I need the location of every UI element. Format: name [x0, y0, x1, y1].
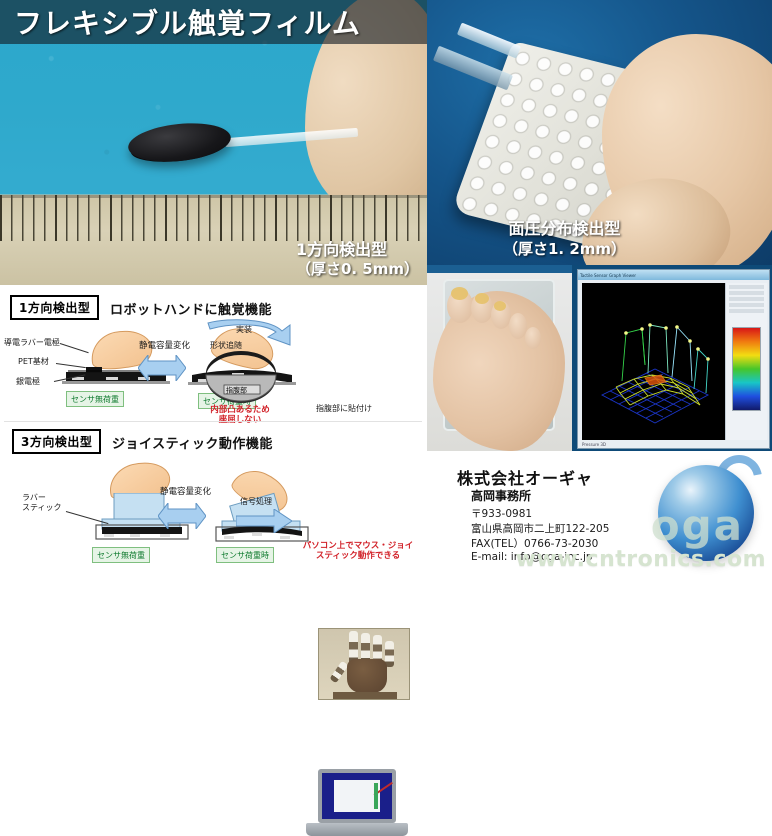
label-silver-electrode: 銀電極 [16, 377, 40, 386]
bumpy-film-photo: 面圧分布検出型 （厚さ1. 2mm） [427, 0, 772, 265]
label-sensor-no-load-2: センサ無荷重 [92, 547, 150, 563]
laptop-display [334, 780, 380, 812]
label-no-buckling: 内部凸あるため 座屈しない [190, 405, 290, 425]
oga-watermark: oga [651, 501, 744, 550]
diagram-area: 1方向検出型 ロボットハンドに触覚機能 導電ラバー電極 PET基材 銀電極 セン… [0, 285, 427, 576]
caption-top-left: 1方向検出型 （厚さ0. 5mm） [296, 240, 419, 279]
panel-row [729, 303, 764, 307]
caption-top-left-sub: （厚さ0. 5mm） [296, 260, 419, 279]
toenail-3 [494, 301, 506, 311]
caption-top-right-sub: （厚さ1. 2mm） [435, 240, 694, 260]
address: 富山県高岡市二上町122-205 [471, 521, 609, 536]
office-name: 高岡事務所 [471, 487, 531, 504]
pressure-3d-plot [582, 283, 728, 440]
label-sensor-loaded-2: センサ荷重時 [216, 547, 274, 563]
arrow-capacitance-2 [158, 503, 206, 529]
label-pc-note: パソコン上でマウス・ジョイ スティック動作できる [296, 541, 420, 561]
plot-svg [582, 283, 728, 440]
site-watermark: www.cntronics.com [516, 547, 766, 572]
panel-row [729, 285, 764, 289]
caption-top-left-main: 1方向検出型 [296, 240, 419, 260]
poster-root: フレキシブル触覚フィルム 1方向検出型 （厚さ0. 5mm） 面圧分布検出型 （… [0, 0, 772, 576]
display-bar [374, 783, 378, 809]
app-window: Tactile Sensor Graph Viewer [577, 269, 770, 449]
title-banner: フレキシブル触覚フィルム [0, 0, 427, 44]
panel-row [729, 297, 764, 301]
robot-thumb [329, 661, 348, 684]
app-window-title: Tactile Sensor Graph Viewer [580, 273, 636, 278]
film-lead-strip-2 [457, 22, 521, 58]
laptop-screen [318, 769, 396, 823]
callout-1 [60, 343, 89, 353]
ruler-ticks-large [0, 195, 427, 241]
label-attach-to-finger-pad: 指腹部に貼付け [316, 404, 372, 413]
toenail-2 [475, 293, 489, 304]
laptop-base [306, 823, 408, 836]
page-title: フレキシブル触覚フィルム [0, 2, 361, 42]
section-divider [4, 421, 422, 422]
panel-row [729, 309, 764, 313]
robot-palm [347, 659, 387, 693]
foot-sensor-photo [427, 265, 572, 451]
label-rubber-stick: ラバー スティック [22, 493, 62, 514]
label-conductive-rubber-electrode: 導電ラバー電極 [4, 338, 60, 347]
app-status-bar: Pressure 3D [582, 442, 606, 447]
section-2-heading: ジョイスティック動作機能 [112, 433, 273, 452]
color-scale-legend [732, 327, 761, 411]
svg-text:指腹部: 指腹部 [226, 386, 247, 395]
arrow-capacitance-1 [138, 355, 186, 381]
label-no-buckling-text: 内部凸あるため 座屈しない [210, 405, 270, 425]
robot-hand-mount [333, 692, 397, 699]
disc-sensor-photo: フレキシブル触覚フィルム 1方向検出型 （厚さ0. 5mm） [0, 0, 427, 285]
robot-hand-photo [318, 628, 410, 700]
panel-row [729, 291, 764, 295]
caption-top-right-main: 面圧分布検出型 [435, 219, 694, 240]
postal-code: 〒933-0981 [471, 506, 532, 521]
label-shape-follow: 形状追随 [210, 341, 242, 350]
toe-5 [525, 327, 541, 349]
section-1-tag: 1方向検出型 [10, 295, 99, 320]
company-name: 株式会社オーギャ [457, 465, 593, 489]
label-signal-processing: 信号処理 [240, 497, 272, 506]
label-capacitance-change-1: 静電容量変化 [139, 342, 190, 352]
finger-pad-dome: 指腹部 [198, 351, 284, 411]
toenail-1 [451, 287, 468, 300]
label-pc-note-text: パソコン上でマウス・ジョイ スティック動作できる [303, 541, 414, 561]
app-title-bar[interactable]: Tactile Sensor Graph Viewer [578, 270, 769, 280]
plot-app-photo: Tactile Sensor Graph Viewer [572, 265, 772, 451]
label-sensor-no-load-1: センサ無荷重 [66, 391, 124, 407]
label-rubber-stick-text: ラバー スティック [22, 493, 62, 512]
arrow-signal-processing [236, 509, 292, 533]
contact-block: oga 株式会社オーギャ 高岡事務所 〒933-0981 富山県高岡市二上町12… [427, 451, 772, 576]
label-capacitance-change-2: 静電容量変化 [160, 488, 211, 498]
label-pet-base: PET基材 [18, 357, 49, 366]
caption-top-right: 面圧分布検出型 （厚さ1. 2mm） [435, 219, 694, 259]
app-side-panel[interactable] [725, 283, 767, 440]
section-1-heading: ロボットハンドに触覚機能 [110, 299, 272, 318]
section-2-tag: 3方向検出型 [12, 429, 101, 454]
